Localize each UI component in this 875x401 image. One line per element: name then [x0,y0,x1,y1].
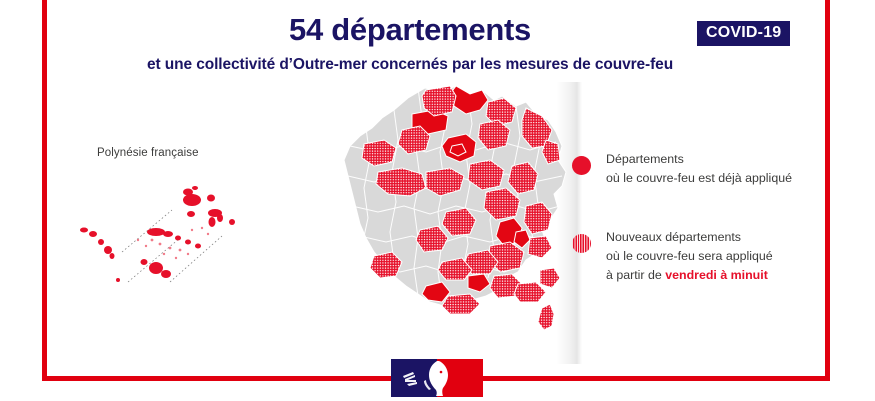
polynesia-label: Polynésie française [97,147,199,159]
frame-border-right [825,0,830,381]
page-title: 54 départements [60,14,760,47]
infographic-root: 54 départements et une collectivité d’Ou… [0,0,875,401]
solid-red-dot-icon [572,156,591,175]
legend-existing-line1: Départements [606,152,684,166]
legend-new-highlight: vendredi à minuit [665,268,768,282]
frame-border-left [42,0,47,381]
french-republic-marianne-logo [391,359,483,397]
status-badge: COVID-19 [697,21,790,46]
legend-text-existing: Départements où le couvre-feu est déjà a… [606,150,792,188]
france-departments-map [330,80,570,335]
legend-new-line2: où le couvre-feu sera appliqué [606,249,773,263]
hatched-red-dot-icon [572,234,591,253]
legend-existing-line2: où le couvre-feu est déjà appliqué [606,171,792,185]
polynesia-map [60,170,260,290]
page-subtitle: et une collectivité d’Outre-mer concerné… [60,56,760,74]
legend-new-line3: à partir de [606,268,665,282]
legend-new-line1: Nouveaux départements [606,230,741,244]
legend-text-new: Nouveaux départements où le couvre-feu s… [606,228,773,285]
